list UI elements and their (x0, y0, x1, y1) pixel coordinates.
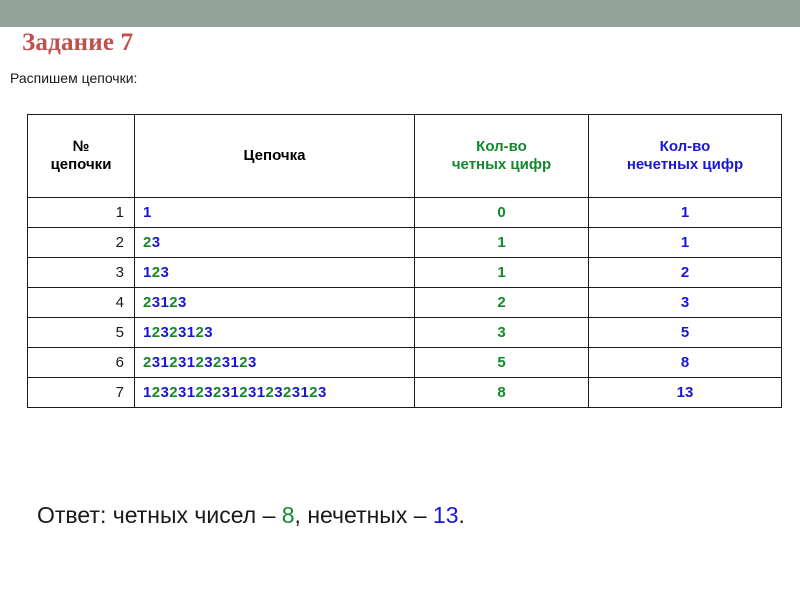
chain-digit: 3 (178, 354, 187, 371)
chain-digit: 2 (143, 294, 152, 311)
cell-even-count: 1 (415, 258, 589, 288)
cell-chain: 23 (135, 228, 415, 258)
chain-digit: 2 (213, 384, 222, 401)
header-chain-number-line2: цепочки (51, 156, 112, 173)
cell-chain-number: 4 (28, 288, 135, 318)
chain-digit: 3 (222, 354, 231, 371)
chain-digit: 2 (196, 354, 205, 371)
chain-digit: 2 (283, 384, 292, 401)
chain-digit: 2 (152, 264, 161, 281)
cell-chain: 1 (135, 198, 415, 228)
cell-even-count: 0 (415, 198, 589, 228)
chain-digit: 3 (178, 294, 187, 311)
cell-odd-count: 2 (589, 258, 782, 288)
chain-digit: 2 (169, 294, 178, 311)
chain-digit: 3 (161, 384, 170, 401)
subtitle-text: Распишем цепочки: (10, 70, 137, 86)
chain-digit: 3 (178, 384, 187, 401)
chain-digit: 1 (161, 294, 170, 311)
cell-chain: 123 (135, 258, 415, 288)
header-even-count-line2: четных цифр (452, 156, 551, 173)
cell-chain: 2312312323123 (135, 348, 415, 378)
chain-digit: 1 (143, 264, 152, 281)
chain-digit: 1 (143, 384, 152, 401)
chain-digit: 2 (196, 384, 205, 401)
chain-digit: 1 (187, 354, 196, 371)
header-odd-count-line2: нечетных цифр (627, 156, 743, 173)
chain-digit: 2 (213, 354, 222, 371)
chain-digit: 3 (161, 324, 170, 341)
cell-odd-count: 1 (589, 198, 782, 228)
chain-digit: 2 (266, 384, 275, 401)
header-even-count-line1: Кол-во (476, 138, 527, 155)
chain-digit: 2 (169, 384, 178, 401)
chain-digit: 3 (292, 384, 301, 401)
chain-digit: 3 (152, 234, 161, 251)
answer-odd-count: 13 (433, 502, 459, 528)
chain-digit: 1 (187, 324, 196, 341)
cell-chain-number: 2 (28, 228, 135, 258)
chain-digit: 3 (204, 384, 213, 401)
chain-digit: 2 (152, 324, 161, 341)
cell-odd-count: 1 (589, 228, 782, 258)
cell-chain-number: 5 (28, 318, 135, 348)
header-row: № цепочки Цепочка Кол-во четных цифр Кол… (28, 115, 782, 198)
cell-even-count: 3 (415, 318, 589, 348)
chain-digit: 3 (204, 324, 213, 341)
chain-digit: 1 (301, 384, 310, 401)
table-row: 42312323 (28, 288, 782, 318)
table-row: 22311 (28, 228, 782, 258)
cell-even-count: 8 (415, 378, 589, 408)
chain-digit: 1 (231, 384, 240, 401)
chain-digit: 1 (231, 354, 240, 371)
chains-table: № цепочки Цепочка Кол-во четных цифр Кол… (27, 114, 782, 408)
cell-chain-number: 7 (28, 378, 135, 408)
cell-even-count: 2 (415, 288, 589, 318)
header-chain-number: № цепочки (28, 115, 135, 198)
chain-digit: 3 (274, 384, 283, 401)
top-banner (0, 0, 800, 27)
page-title: Задание 7 (22, 29, 133, 57)
chain-digit: 1 (161, 354, 170, 371)
cell-chain-number: 6 (28, 348, 135, 378)
header-odd-count-line1: Кол-во (660, 138, 711, 155)
chain-digit: 3 (204, 354, 213, 371)
chain-digit: 3 (178, 324, 187, 341)
answer-line: Ответ: четных чисел – 8, нечетных – 13. (37, 502, 465, 529)
header-odd-count: Кол-во нечетных цифр (589, 115, 782, 198)
chain-digit: 2 (239, 384, 248, 401)
chain-digit: 3 (161, 264, 170, 281)
chain-digit: 3 (248, 384, 257, 401)
header-chain: Цепочка (135, 115, 415, 198)
cell-even-count: 1 (415, 228, 589, 258)
chain-digit: 2 (143, 234, 152, 251)
chain-digit: 3 (248, 354, 257, 371)
chain-digit: 2 (169, 354, 178, 371)
cell-odd-count: 8 (589, 348, 782, 378)
table-body: 1101223113123124231232351232312335623123… (28, 198, 782, 408)
chain-digit: 2 (169, 324, 178, 341)
chain-digit: 3 (222, 384, 231, 401)
chain-digit: 2 (143, 354, 152, 371)
table-row: 7123231232312312323123813 (28, 378, 782, 408)
cell-odd-count: 13 (589, 378, 782, 408)
header-even-count: Кол-во четных цифр (415, 115, 589, 198)
chain-digit: 2 (309, 384, 318, 401)
chain-digit: 3 (152, 294, 161, 311)
answer-prefix: Ответ: четных чисел – (37, 502, 282, 528)
table-row: 312312 (28, 258, 782, 288)
chain-digit: 2 (196, 324, 205, 341)
cell-chain: 23123 (135, 288, 415, 318)
chain-digit: 1 (187, 384, 196, 401)
chain-digit: 1 (143, 204, 152, 221)
table-header: № цепочки Цепочка Кол-во четных цифр Кол… (28, 115, 782, 198)
table-row: 51232312335 (28, 318, 782, 348)
cell-odd-count: 5 (589, 318, 782, 348)
header-chain-number-line1: № (73, 138, 90, 155)
answer-even-count: 8 (282, 502, 295, 528)
answer-suffix: . (459, 502, 465, 528)
cell-chain-number: 1 (28, 198, 135, 228)
chain-digit: 2 (239, 354, 248, 371)
cell-chain-number: 3 (28, 258, 135, 288)
cell-chain: 12323123 (135, 318, 415, 348)
chain-digit: 2 (152, 384, 161, 401)
cell-even-count: 5 (415, 348, 589, 378)
answer-middle: , нечетных – (295, 502, 433, 528)
chain-digit: 3 (318, 384, 327, 401)
chain-digit: 1 (143, 324, 152, 341)
cell-chain: 123231232312312323123 (135, 378, 415, 408)
table-row: 6231231232312358 (28, 348, 782, 378)
chain-digit: 3 (152, 354, 161, 371)
cell-odd-count: 3 (589, 288, 782, 318)
chain-digit: 1 (257, 384, 266, 401)
table-row: 1101 (28, 198, 782, 228)
